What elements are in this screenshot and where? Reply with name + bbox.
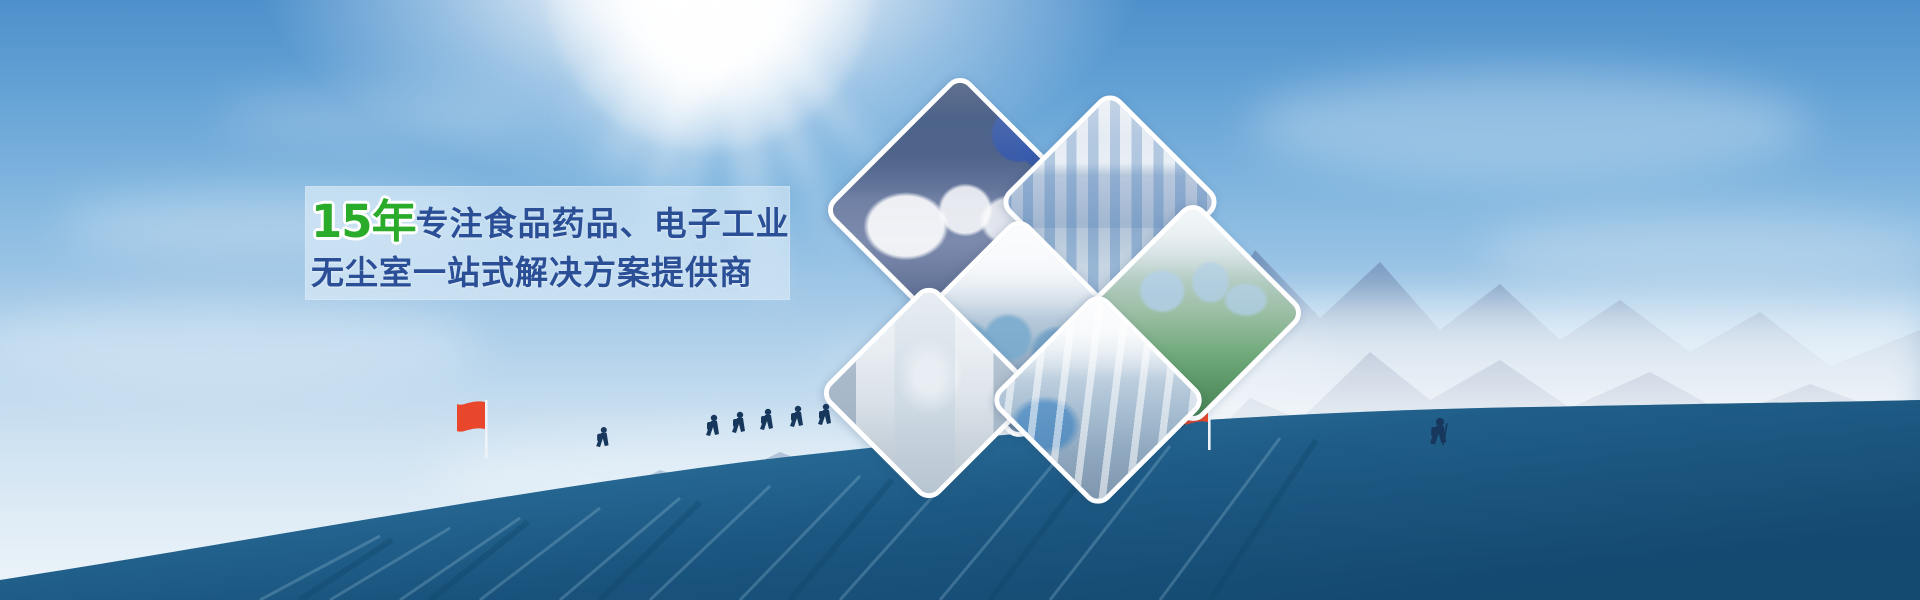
hero-banner: 15年专注食品药品、电子工业 无尘室一站式解决方案提供商 xyxy=(0,0,1920,600)
photo-diamond-cluster xyxy=(0,0,1920,600)
